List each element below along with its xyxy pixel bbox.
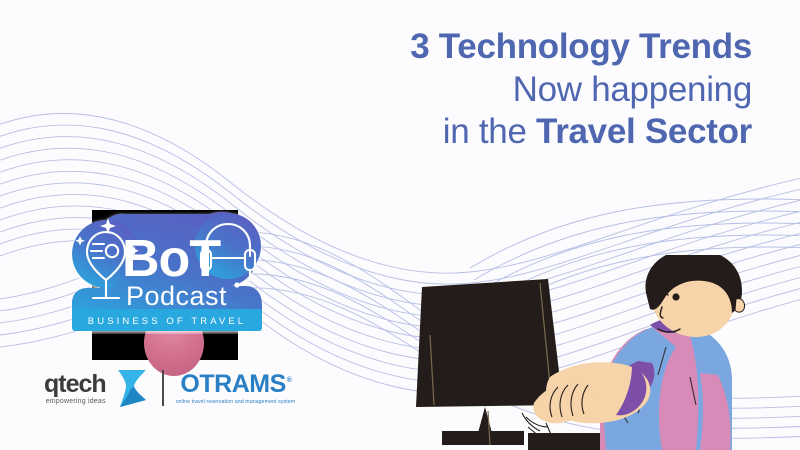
otrams-wordmark: OTRAMS® — [180, 372, 290, 397]
monitor-icon — [416, 279, 563, 445]
headline-line-2: Now happening — [410, 69, 752, 112]
bot-podcast-logo[interactable]: BoT Podcast BUSINESS OF TRAVEL — [60, 206, 275, 334]
badge-subtitle: Podcast — [126, 281, 227, 311]
qtech-tagline: empowering ideas — [46, 398, 106, 405]
headline-line-1: 3 Technology Trends — [410, 26, 752, 69]
badge-title: BoT — [122, 230, 221, 288]
headline-line-3-prefix: in the — [443, 112, 536, 151]
otrams-registered-mark: ® — [287, 377, 292, 384]
partner-logos: qtech empowering ideas OTRAMS® online tr… — [44, 366, 295, 410]
qtech-wordmark: qtech — [44, 372, 106, 397]
person-typing-illustration — [400, 255, 800, 450]
qtech-ribbon-icon — [112, 366, 152, 410]
headline-line-3: in the Travel Sector — [410, 111, 752, 154]
poster-canvas: 3 Technology Trends Now happening in the… — [0, 0, 800, 450]
headline: 3 Technology Trends Now happening in the… — [410, 26, 752, 154]
headline-line-3-strong: Travel Sector — [536, 112, 752, 151]
otrams-tagline: online travel reservation and management… — [176, 399, 295, 405]
qtech-logo[interactable]: qtech empowering ideas — [44, 366, 152, 410]
badge-tagline: BUSINESS OF TRAVEL — [88, 316, 246, 327]
otrams-name: OTRAMS — [180, 370, 285, 398]
otrams-logo[interactable]: OTRAMS® online travel reservation and ma… — [176, 372, 295, 405]
logo-divider — [162, 370, 164, 406]
